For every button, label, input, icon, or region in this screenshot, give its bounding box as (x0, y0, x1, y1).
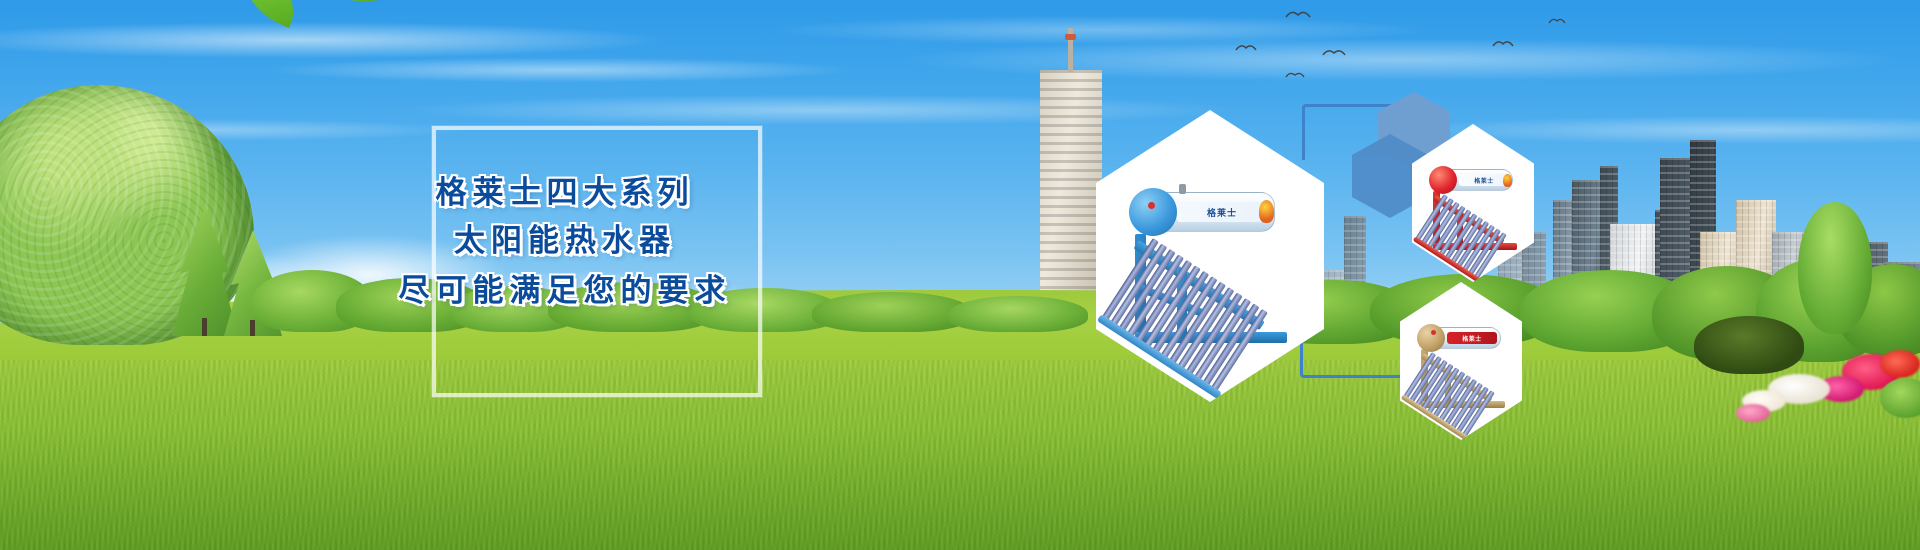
tank-logo-icon (1259, 200, 1274, 223)
tank-indicator-icon (1431, 330, 1436, 335)
tank-indicator-icon (1148, 202, 1155, 209)
brand-label: 格莱士 (1447, 332, 1497, 344)
flower-cluster-pink (1736, 404, 1770, 422)
grass-shading (0, 430, 1920, 550)
headline-line-2: 太阳能热水器 (330, 216, 800, 266)
headline-line-3: 尽可能满足您的要求 (330, 266, 800, 316)
tank-end-cap (1429, 166, 1457, 194)
bird-icon (1285, 8, 1311, 20)
headline-block: 格莱士四大系列 太阳能热水器 尽可能满足您的要求 (330, 170, 800, 316)
dark-shrub (1694, 316, 1804, 374)
promo-banner: 格莱士 (0, 0, 1920, 550)
flower-cluster-red (1880, 350, 1920, 378)
tree-trunk (202, 318, 207, 336)
tank-end-cap (1129, 188, 1177, 236)
solar-heater-blue: 格莱士 (1115, 156, 1305, 356)
tree-trunk (250, 320, 255, 336)
slender-tree (1798, 202, 1872, 334)
solar-heater-red: 格莱士 (1421, 149, 1525, 257)
brand-label: 格莱士 (1177, 202, 1267, 222)
brand-label-text: 格莱士 (1474, 176, 1494, 185)
bird-icon (1322, 47, 1346, 58)
headline-line-1: 格莱士四大系列 (330, 170, 800, 216)
tank-vent-icon (1179, 184, 1186, 194)
tank-logo-icon (1503, 174, 1512, 187)
solar-heater-gold: 格莱士 (1409, 307, 1513, 415)
bird-icon (1235, 42, 1257, 52)
bird-icon (1285, 70, 1305, 79)
brand-label-text: 格莱士 (1462, 334, 1482, 343)
shrub (948, 296, 1088, 332)
tower-mast-icon (1068, 28, 1073, 72)
brand-label-text: 格莱士 (1207, 206, 1237, 219)
tank-end-cap (1417, 324, 1445, 352)
brand-label: 格莱士 (1459, 174, 1509, 186)
bird-icon (1492, 38, 1514, 48)
bird-icon (1548, 16, 1566, 25)
